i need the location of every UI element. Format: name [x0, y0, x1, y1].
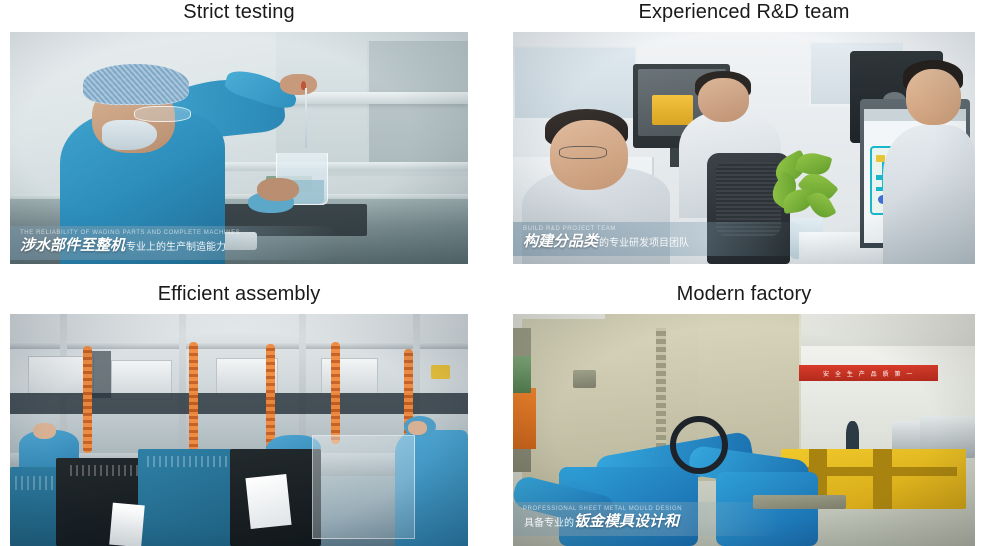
cell-experienced-rd-team: Experienced R&D team: [513, 0, 975, 264]
overlay-chinese-large: 构建分品类: [523, 233, 598, 250]
overlay-caption-rd-team: BUILD R&D PROJECT TEAM 构建分品类的专业研发项目团队: [513, 222, 809, 256]
overlay-chinese-small: 专业上的生产制造能力: [126, 242, 226, 253]
cell-strict-testing: Strict testing: [10, 0, 468, 264]
photo-strict-testing: THE RELIABILITY OF WADING PARTS AND COMP…: [10, 32, 468, 264]
overlay-english-text: THE RELIABILITY OF WADING PARTS AND COMP…: [20, 229, 332, 237]
overlay-chinese-large: 钣金模具设计和: [574, 513, 679, 530]
overlay-chinese-small: 具备专业的: [524, 518, 574, 529]
photo-modern-factory: 安 全 生 产 品 质 第 一 PROFESSI: [513, 314, 975, 546]
scene-assembly-line: [10, 314, 468, 546]
cell-title-experienced-rd-team: Experienced R&D team: [513, 0, 975, 24]
overlay-chinese-large: 涉水部件至整机: [20, 237, 125, 254]
overlay-chinese-small: 的专业研发项目团队: [599, 238, 689, 249]
overlay-chinese-line: 涉水部件至整机专业上的生产制造能力: [20, 238, 332, 256]
cell-title-strict-testing: Strict testing: [10, 0, 468, 24]
photo-efficient-assembly: [10, 314, 468, 546]
cell-title-efficient-assembly: Efficient assembly: [10, 282, 468, 306]
cell-title-modern-factory: Modern factory: [513, 282, 975, 306]
photo-experienced-rd-team: BUILD R&D PROJECT TEAM 构建分品类的专业研发项目团队: [513, 32, 975, 264]
assembly-vignette: [10, 314, 468, 546]
overlay-english-text: BUILD R&D PROJECT TEAM: [523, 225, 801, 233]
overlay-caption-modern-factory: PROFESSIONAL SHEET METAL MOULD DESIGN 具备…: [513, 502, 781, 536]
overlay-chinese-line: 构建分品类的专业研发项目团队: [523, 234, 801, 252]
overlay-chinese-line: 具备专业的钣金模具设计和: [523, 514, 773, 532]
feature-image-grid: Strict testing: [0, 0, 985, 544]
cell-modern-factory: Modern factory 安 全 生 产 品 质 第 一: [513, 282, 975, 546]
overlay-caption-strict-testing: THE RELIABILITY OF WADING PARTS AND COMP…: [10, 226, 340, 260]
overlay-english-text: PROFESSIONAL SHEET METAL MOULD DESIGN: [523, 505, 773, 513]
cell-efficient-assembly: Efficient assembly: [10, 282, 468, 546]
